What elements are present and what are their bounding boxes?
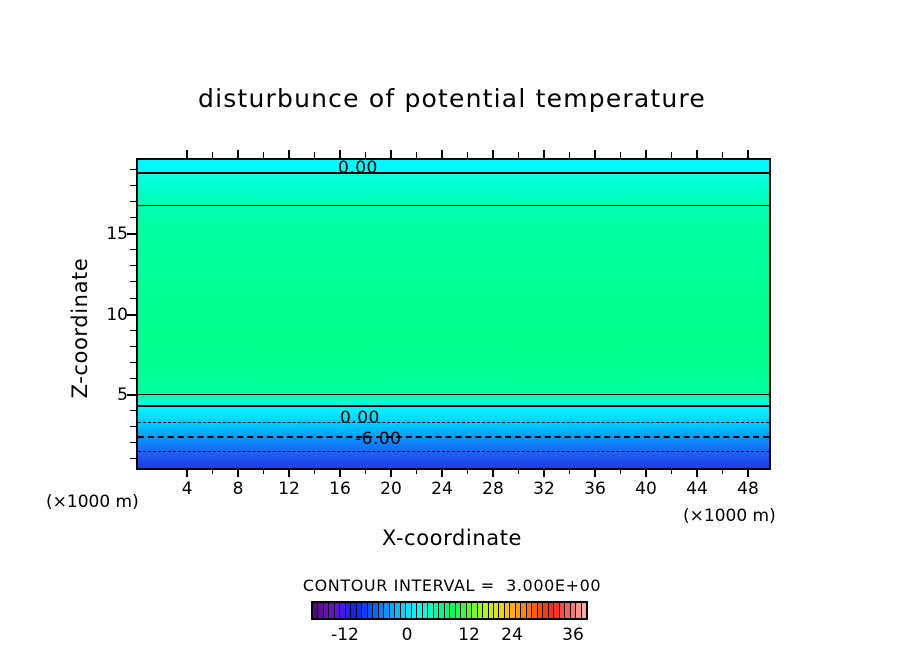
y-tick-5: [127, 394, 136, 396]
x-tick-28: [492, 468, 494, 477]
x-tick-top-minor-38: [620, 152, 621, 158]
x-tick-4: [186, 468, 188, 477]
x-axis-title: X-coordinate: [0, 526, 904, 550]
x-tick-top-16: [339, 150, 341, 159]
x-tick-20: [390, 468, 392, 477]
x-tick-label-4: 4: [182, 479, 193, 499]
x-tick-label-12: 12: [278, 479, 300, 499]
x-tick-top-20: [390, 150, 392, 159]
x-tick-36: [594, 468, 596, 477]
contour-label-neg-six: -6.00: [355, 431, 402, 448]
x-tick-top-minor-46: [722, 152, 723, 158]
x-tick-label-44: 44: [686, 479, 708, 499]
x-tick-top-minor-22: [416, 152, 417, 158]
colorbar-label-neg12: -12: [331, 625, 359, 645]
y-tick-minor-12: [130, 281, 136, 282]
x-tick-top-minor-34: [569, 152, 570, 158]
x-tick-44: [696, 468, 698, 477]
colorbar[interactable]: [311, 601, 588, 620]
y-tick-minor-9: [130, 330, 136, 331]
x-tick-top-28: [492, 150, 494, 159]
contour-plot-canvas[interactable]: [136, 158, 771, 470]
y-tick-minor-11: [130, 298, 136, 299]
x-tick-minor-46: [722, 468, 723, 474]
x-tick-40: [645, 468, 647, 477]
x-tick-minor-42: [671, 468, 672, 474]
x-tick-32: [543, 468, 545, 477]
y-tick-label-10: 10: [100, 305, 128, 325]
x-tick-8: [237, 468, 239, 477]
x-tick-top-minor-30: [518, 152, 519, 158]
y-tick-10: [127, 314, 136, 316]
y-tick-minor-3: [130, 426, 136, 427]
contour-line-zero-top: [138, 172, 769, 174]
contour-label-zero-top: 0.00: [338, 160, 378, 177]
y-tick-minor-16: [130, 217, 136, 218]
x-tick-12: [288, 468, 290, 477]
x-tick-label-8: 8: [233, 479, 244, 499]
contour-line-zero-lower: [138, 405, 769, 407]
x-tick-label-32: 32: [533, 479, 555, 499]
contour-line-neg-3: [138, 422, 769, 423]
x-tick-label-28: 28: [482, 479, 504, 499]
colorbar-label-36: 36: [562, 625, 584, 645]
y-tick-minor-4: [130, 410, 136, 411]
x-tick-top-32: [543, 150, 545, 159]
x-tick-top-minor-14: [314, 152, 315, 158]
y-tick-minor-2: [130, 442, 136, 443]
x-tick-48: [747, 468, 749, 477]
colorbar-swatch-49: [582, 603, 586, 618]
y-tick-minor-7: [130, 362, 136, 363]
y-tick-15: [127, 233, 136, 235]
x-tick-minor-14: [314, 468, 315, 474]
x-unit-label-left: (×1000 m): [46, 492, 139, 512]
y-tick-minor-18: [130, 185, 136, 186]
y-tick-label-15: 15: [100, 224, 128, 244]
x-tick-label-16: 16: [329, 479, 351, 499]
colorbar-label-0: 0: [402, 625, 413, 645]
colorbar-label-24: 24: [501, 625, 523, 645]
y-tick-minor-8: [130, 346, 136, 347]
x-tick-16: [339, 468, 341, 477]
x-tick-label-36: 36: [584, 479, 606, 499]
y-tick-minor-17: [130, 201, 136, 202]
x-tick-minor-6: [212, 468, 213, 474]
contour-line-neg-6: [138, 436, 769, 438]
y-axis-title: Z-coordinate: [68, 218, 92, 438]
x-tick-top-40: [645, 150, 647, 159]
x-tick-minor-18: [365, 468, 366, 474]
y-tick-minor-1: [130, 458, 136, 459]
y-tick-minor-14: [130, 249, 136, 250]
contour-interval-caption: CONTOUR INTERVAL = 3.000E+00: [0, 576, 904, 595]
x-tick-top-44: [696, 150, 698, 159]
x-tick-minor-38: [620, 468, 621, 474]
x-tick-top-minor-26: [467, 152, 468, 158]
contour-line-upper: [138, 205, 769, 206]
x-tick-top-minor-18: [365, 152, 366, 158]
x-tick-top-minor-6: [212, 152, 213, 158]
x-tick-minor-34: [569, 468, 570, 474]
y-tick-minor-6: [130, 378, 136, 379]
y-tick-label-5: 5: [100, 385, 128, 405]
x-tick-minor-30: [518, 468, 519, 474]
x-tick-top-12: [288, 150, 290, 159]
colorbar-label-12: 12: [458, 625, 480, 645]
x-tick-label-40: 40: [635, 479, 657, 499]
x-tick-top-4: [186, 150, 188, 159]
x-tick-24: [441, 468, 443, 477]
x-unit-label-right: (×1000 m): [683, 506, 776, 526]
x-tick-top-8: [237, 150, 239, 159]
x-tick-label-48: 48: [737, 479, 759, 499]
x-tick-top-48: [747, 150, 749, 159]
x-tick-top-36: [594, 150, 596, 159]
contour-line-lower-a: [138, 394, 769, 395]
y-tick-minor-13: [130, 265, 136, 266]
x-tick-minor-10: [263, 468, 264, 474]
x-tick-minor-26: [467, 468, 468, 474]
contour-line-neg-9: [138, 451, 769, 452]
page-title: disturbunce of potential temperature: [0, 84, 904, 113]
x-tick-top-minor-10: [263, 152, 264, 158]
x-tick-label-24: 24: [431, 479, 453, 499]
y-tick-minor-19: [130, 169, 136, 170]
x-tick-label-20: 20: [380, 479, 402, 499]
x-tick-top-24: [441, 150, 443, 159]
x-tick-top-minor-42: [671, 152, 672, 158]
x-tick-minor-22: [416, 468, 417, 474]
contour-label-zero-lower: 0.00: [340, 410, 380, 427]
